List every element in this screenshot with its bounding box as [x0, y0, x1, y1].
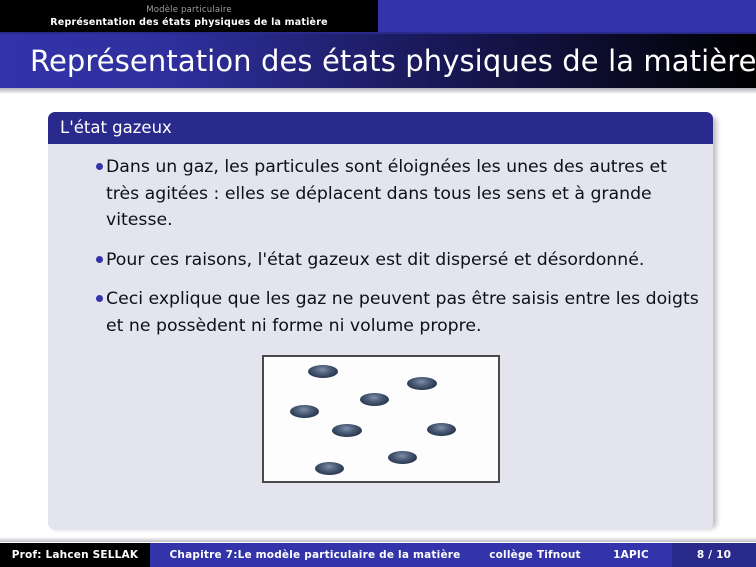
- block-title: L'état gazeux: [48, 112, 713, 144]
- block-body: Dans un gaz, les particules sont éloigné…: [48, 144, 713, 530]
- gas-particle: [315, 462, 344, 475]
- footer-class: 1APIC: [590, 543, 672, 567]
- footer-chapter: Chapitre 7:Le modèle particulaire de la …: [150, 543, 480, 567]
- headline-bar: Modèle particulaire Représentation des é…: [0, 0, 756, 32]
- bullet-dot-icon: [96, 295, 103, 302]
- list-item-text: Pour ces raisons, l'état gazeux est dit …: [106, 250, 644, 270]
- figure-container: [62, 355, 699, 483]
- gas-particle: [290, 405, 319, 418]
- headline-title: Représentation des états physiques de la…: [50, 16, 327, 29]
- list-item-text: Dans un gaz, les particules sont éloigné…: [106, 157, 667, 230]
- footer-shadow: [0, 537, 756, 542]
- content-block-inner: L'état gazeux Dans un gaz, les particule…: [48, 112, 713, 530]
- gas-particle: [308, 365, 338, 378]
- frame-title-bar: Représentation des états physiques de la…: [0, 34, 756, 88]
- list-item: Dans un gaz, les particules sont éloigné…: [62, 154, 699, 234]
- gas-particle: [427, 423, 456, 436]
- headline-subtitle: Modèle particulaire: [146, 4, 232, 16]
- gas-particle: [407, 377, 437, 390]
- list-item: Pour ces raisons, l'état gazeux est dit …: [62, 247, 699, 274]
- gas-particle-diagram: [262, 355, 500, 483]
- footer-author: Prof: Lahcen SELLAK: [0, 543, 150, 567]
- footer-school: collège Tifnout: [480, 543, 590, 567]
- bullet-list: Dans un gaz, les particules sont éloigné…: [62, 154, 699, 339]
- list-item: Ceci explique que les gaz ne peuvent pas…: [62, 286, 699, 339]
- headline-title-box: Modèle particulaire Représentation des é…: [0, 0, 378, 32]
- gas-particle: [388, 451, 417, 464]
- bullet-dot-icon: [96, 163, 103, 170]
- title-bar-shadow: [0, 88, 756, 94]
- footer-page-number: 8 / 10: [672, 543, 756, 567]
- gas-particle: [332, 424, 362, 437]
- footer-bar: Prof: Lahcen SELLAK Chapitre 7:Le modèle…: [0, 543, 756, 567]
- content-block: L'état gazeux Dans un gaz, les particule…: [48, 112, 713, 530]
- bullet-dot-icon: [96, 256, 103, 263]
- page-title: Représentation des états physiques de la…: [0, 44, 756, 78]
- list-item-text: Ceci explique que les gaz ne peuvent pas…: [106, 289, 699, 336]
- gas-particle: [360, 393, 389, 406]
